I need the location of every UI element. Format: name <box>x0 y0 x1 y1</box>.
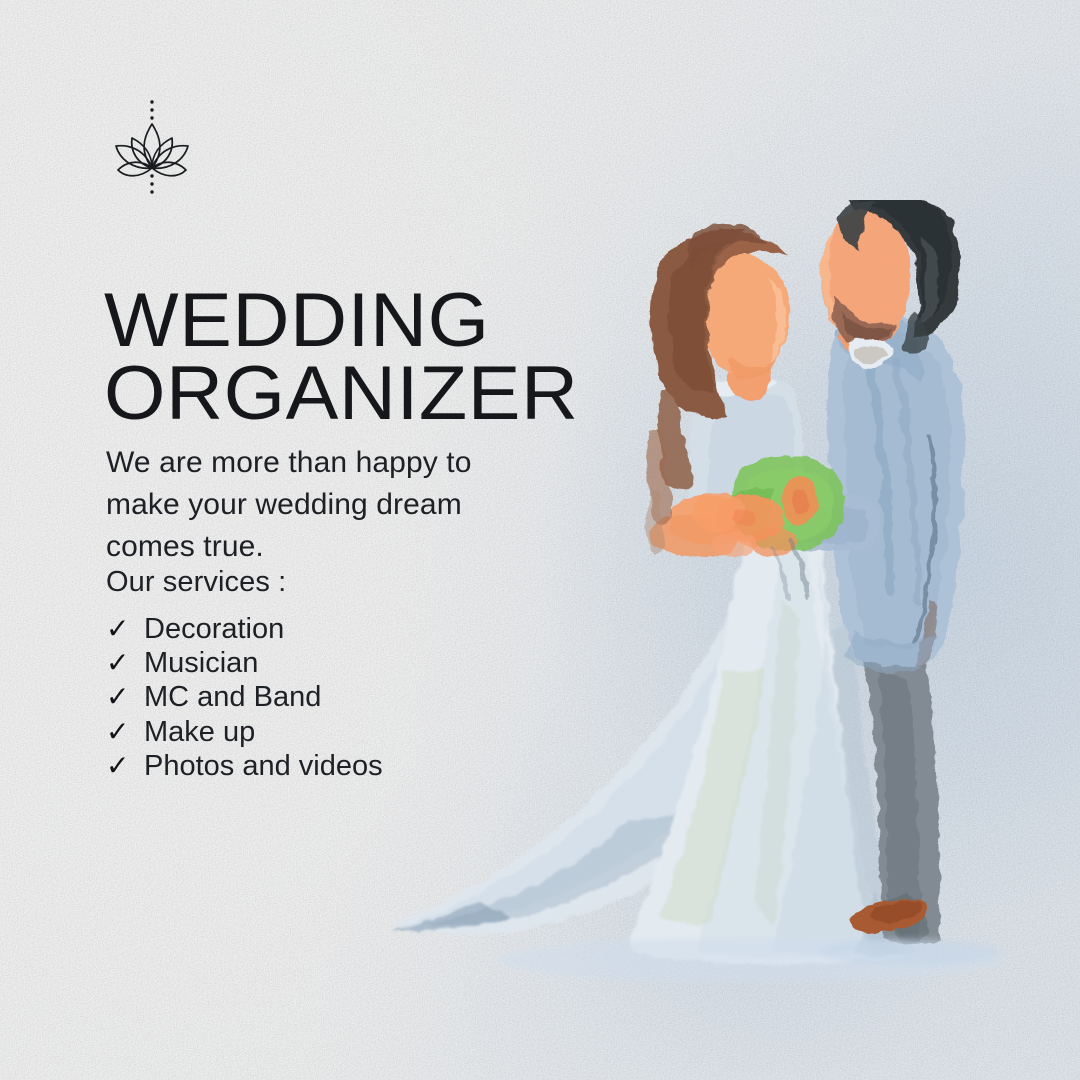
checkmark-icon: ✓ <box>106 752 132 780</box>
service-label: Photos and videos <box>144 749 383 783</box>
services-list: ✓ Decoration ✓ Musician ✓ MC and Band ✓ … <box>106 612 383 783</box>
service-label: Make up <box>144 715 255 749</box>
checkmark-icon: ✓ <box>106 683 132 711</box>
checkmark-icon: ✓ <box>106 718 132 746</box>
tagline-text: We are more than happy to make your wedd… <box>106 442 506 568</box>
checkmark-icon: ✓ <box>106 615 132 643</box>
page-title: WEDDING ORGANIZER <box>104 285 574 430</box>
service-label: MC and Band <box>144 680 321 714</box>
service-label: Musician <box>144 646 258 680</box>
poster-canvas: WEDDING ORGANIZER We are more than happy… <box>0 0 1080 1080</box>
service-label: Decoration <box>144 612 284 646</box>
list-item: ✓ Decoration <box>106 612 383 646</box>
services-heading: Our services : <box>106 566 286 599</box>
list-item: ✓ Make up <box>106 715 383 749</box>
lotus-accent-dots <box>150 100 153 193</box>
checkmark-icon: ✓ <box>106 649 132 677</box>
lotus-flower-icon <box>104 98 200 198</box>
title-line-1: WEDDING <box>104 285 593 356</box>
list-item: ✓ Photos and videos <box>106 749 383 783</box>
list-item: ✓ Musician <box>106 646 383 680</box>
title-line-2: ORGANIZER <box>104 358 593 429</box>
list-item: ✓ MC and Band <box>106 680 383 714</box>
